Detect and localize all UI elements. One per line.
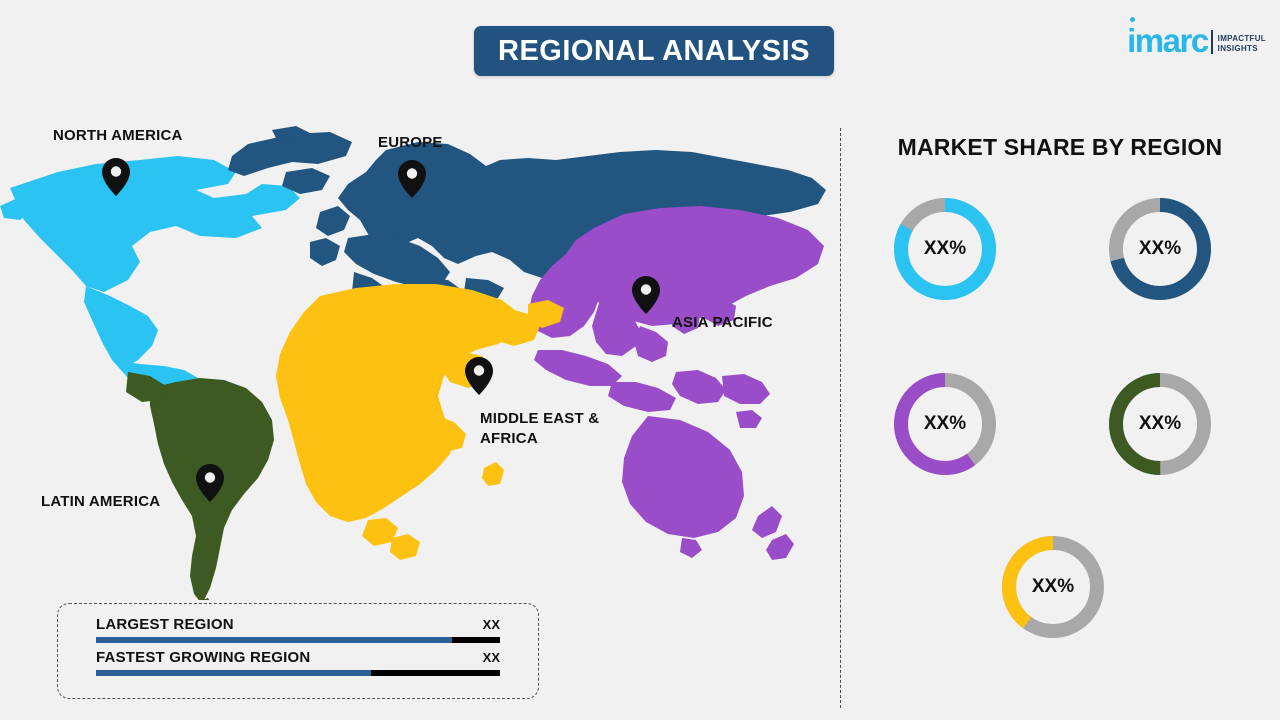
donut-latin-america: XX% — [1099, 363, 1221, 485]
map-region-north-america — [0, 156, 300, 408]
donut-middle-east-africa: XX% — [992, 526, 1114, 648]
market-share-title: MARKET SHARE BY REGION — [840, 134, 1280, 161]
logo-tagline-line2: INSIGHTS — [1218, 44, 1266, 54]
largest-region-value: XX — [483, 617, 500, 632]
donut-europe: XX% — [1099, 188, 1221, 310]
region-summary-box: LARGEST REGION XX FASTEST GROWING REGION… — [57, 603, 539, 699]
map-region-asia-pacific — [528, 206, 824, 560]
logo-dot-icon — [1130, 17, 1135, 22]
page-title: REGIONAL ANALYSIS — [498, 35, 810, 68]
regional-analysis-infographic: REGIONAL ANALYSIS imarc IMPACTFUL INSIGH… — [0, 0, 1280, 720]
map-pin-europe[interactable] — [398, 160, 426, 198]
largest-region-bar-fill — [96, 637, 452, 643]
largest-region-row: LARGEST REGION XX — [96, 616, 500, 643]
fastest-growing-region-value: XX — [483, 650, 500, 665]
map-pin-middle-east-africa[interactable] — [465, 357, 493, 395]
logo-divider — [1211, 30, 1213, 54]
donut-value-label: XX% — [884, 363, 1006, 485]
fastest-growing-region-bar-track — [96, 670, 500, 676]
region-label-middle-east-africa: MIDDLE EAST & AFRICA — [480, 409, 599, 450]
map-pin-latin-america[interactable] — [196, 464, 224, 502]
donut-value-label: XX% — [884, 188, 1006, 310]
largest-region-bar-track — [96, 637, 500, 643]
fastest-growing-region-row: FASTEST GROWING REGION XX — [96, 649, 500, 676]
market-share-donut-group: XX%XX%XX%XX%XX% — [840, 176, 1280, 696]
imarc-logo: imarc IMPACTFUL INSIGHTS — [1127, 22, 1266, 56]
map-pin-north-america[interactable] — [102, 158, 130, 196]
region-label-asia-pacific: ASIA PACIFIC — [672, 313, 773, 333]
region-label-north-america: NORTH AMERICA — [53, 126, 183, 146]
logo-word-text: imarc — [1127, 22, 1208, 59]
donut-value-label: XX% — [1099, 363, 1221, 485]
region-label-latin-america: LATIN AMERICA — [41, 492, 160, 512]
logo-tagline: IMPACTFUL INSIGHTS — [1218, 34, 1266, 54]
largest-region-label: LARGEST REGION — [96, 616, 234, 633]
donut-value-label: XX% — [1099, 188, 1221, 310]
donut-value-label: XX% — [992, 526, 1114, 648]
logo-wordmark: imarc — [1127, 26, 1208, 56]
fastest-growing-region-label: FASTEST GROWING REGION — [96, 649, 310, 666]
region-label-europe: EUROPE — [378, 133, 443, 153]
donut-north-america: XX% — [884, 188, 1006, 310]
map-pin-asia-pacific[interactable] — [632, 276, 660, 314]
fastest-growing-region-bar-fill — [96, 670, 371, 676]
page-title-banner: REGIONAL ANALYSIS — [474, 26, 834, 76]
logo-tagline-line1: IMPACTFUL — [1218, 34, 1266, 44]
donut-asia-pacific: XX% — [884, 363, 1006, 485]
